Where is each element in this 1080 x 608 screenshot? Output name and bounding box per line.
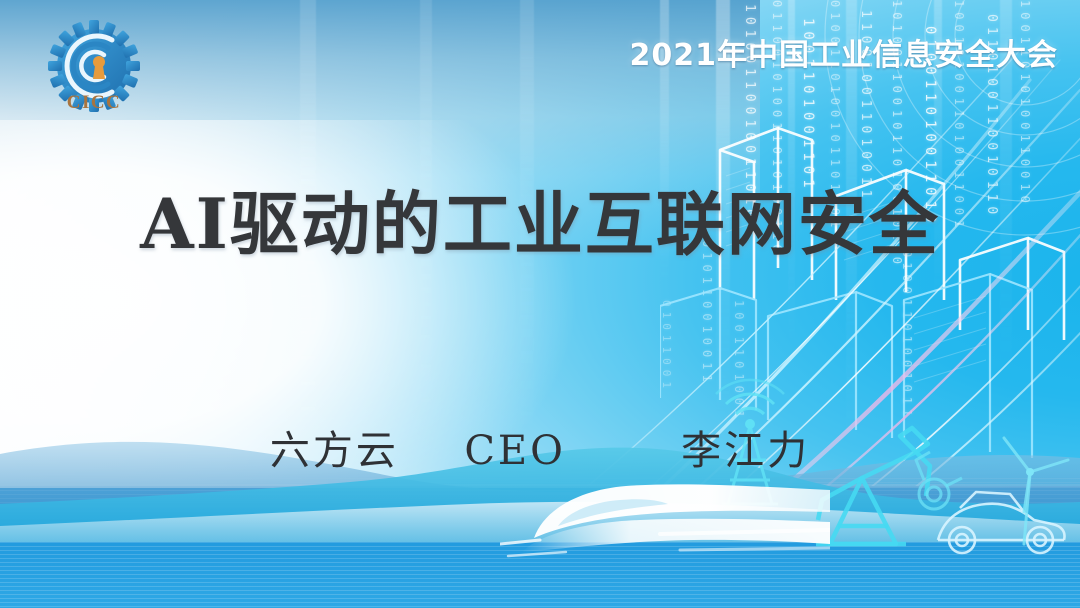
presenter-line: 六方云 CEO 李江力 — [0, 418, 1080, 476]
cicc-wordmark: CICC — [42, 92, 146, 114]
conference-title: 2021年中国工业信息安全大会 — [630, 30, 1059, 74]
presenter-company: 六方云 — [270, 428, 399, 474]
presenter-name: 李江力 — [681, 428, 810, 474]
page-title: AI驱动的工业互联网安全 — [0, 168, 1080, 268]
car-wireframe-icon — [938, 492, 1065, 553]
presentation-slide: 1010011001001101001100101001101010011010… — [0, 0, 1080, 608]
presenter-role: CEO — [464, 428, 566, 474]
high-speed-train-icon — [500, 460, 830, 580]
